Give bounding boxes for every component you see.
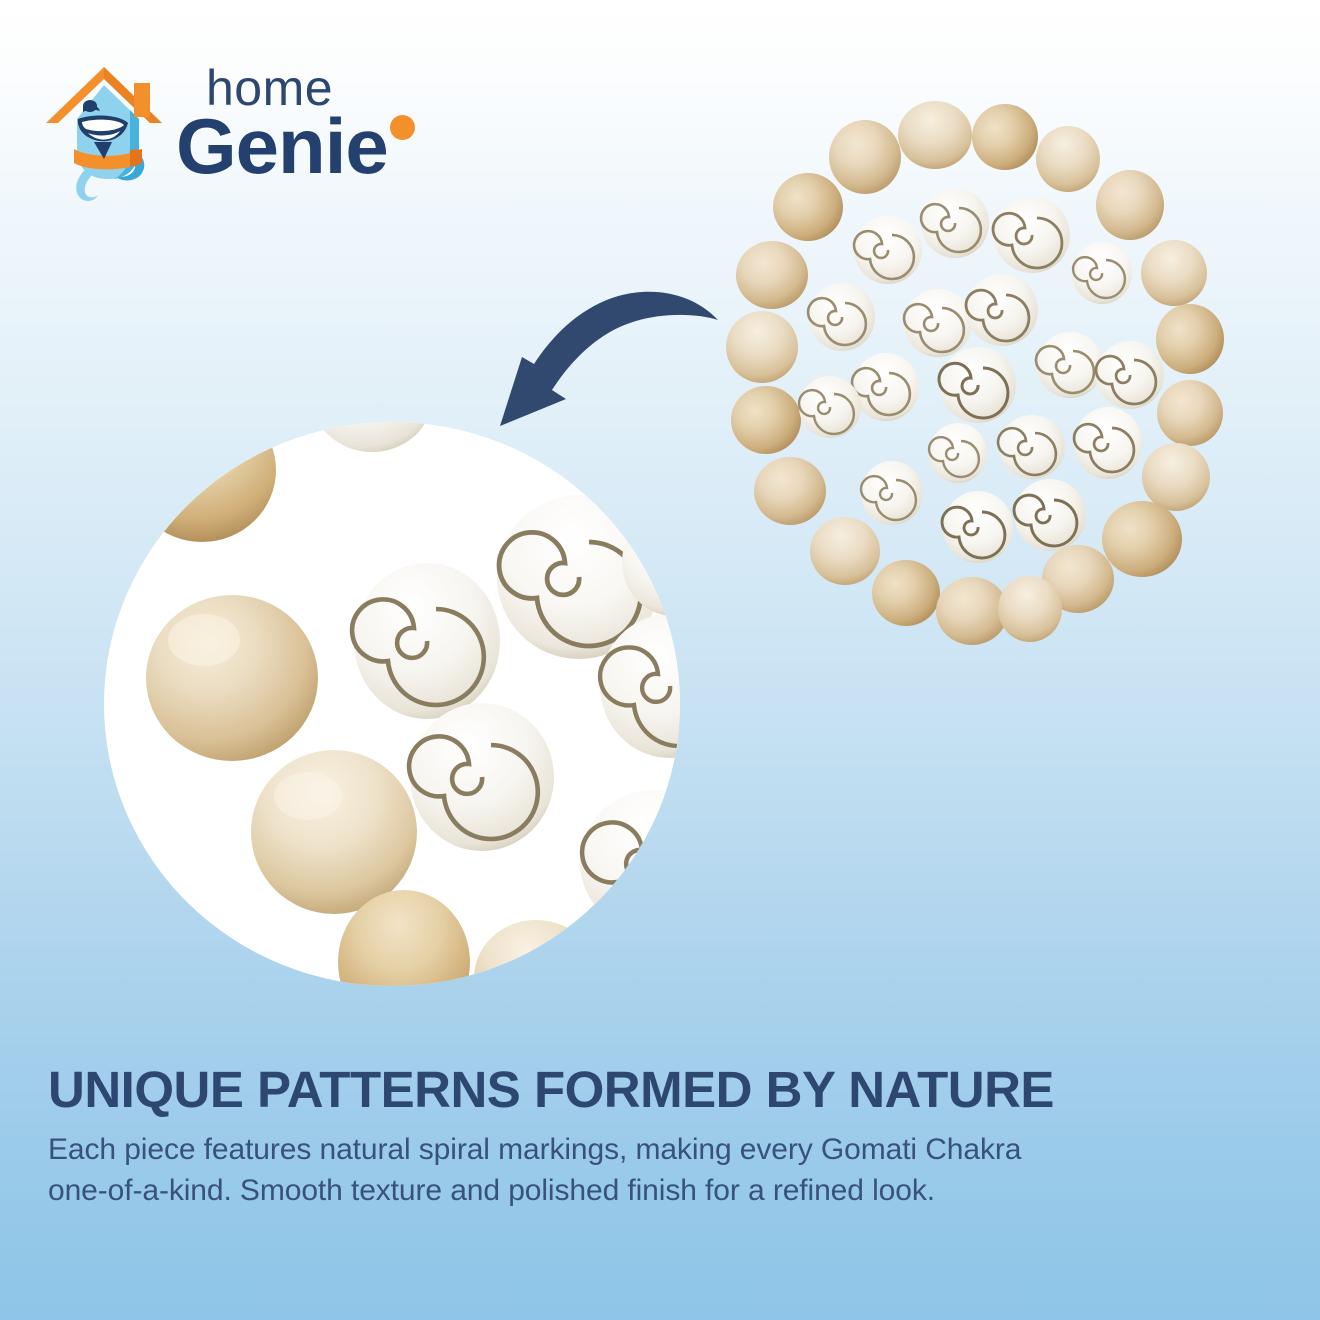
shell-detail-left-tan [146, 595, 318, 761]
feature-text-block: UNIQUE PATTERNS FORMED BY NATURE Each pi… [48, 1062, 1228, 1212]
shell-detail-top-left-partial [128, 422, 276, 542]
gomati-chakra-cluster [690, 95, 1270, 675]
brand-logo[interactable]: home Genie [38, 52, 438, 202]
shell-detail-spiral-1 [352, 563, 500, 719]
brand-orange-dot-icon [390, 115, 415, 140]
brand-word-genie: Genie [176, 107, 388, 185]
page-title: UNIQUE PATTERNS FORMED BY NATURE [48, 1062, 1228, 1117]
product-feature-poster: home Genie [0, 0, 1320, 1320]
shell-detail-spiral-3 [409, 703, 554, 851]
brand-wordmark: home Genie [168, 60, 438, 200]
shell-detail-top-partial [312, 422, 432, 452]
feature-description: Each piece features natural spiral marki… [48, 1129, 1158, 1212]
shell-detail-bottom-left-tan [251, 750, 417, 914]
zoomed-detail-circle [104, 422, 680, 986]
inner-spiral-shells [799, 188, 1164, 563]
shell-detail-bottom-right-spiral [580, 790, 680, 934]
shell-detail-bottom-far-right-tan [474, 920, 598, 986]
feature-description-line-1: Each piece features natural spiral marki… [48, 1129, 1158, 1170]
feature-description-line-2: one-of-a-kind. Smooth texture and polish… [48, 1170, 1158, 1211]
home-genie-mascot-icon [38, 57, 168, 202]
